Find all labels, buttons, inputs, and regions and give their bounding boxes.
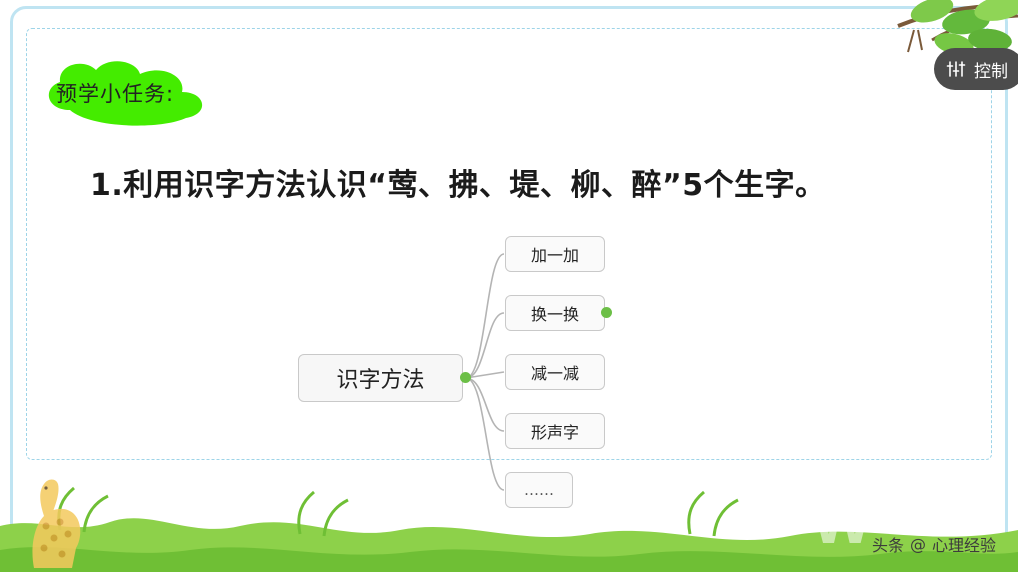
watermark-separator: @ (910, 535, 926, 554)
slide-canvas: 控制 预学小任务: 1.利用识字方法认识“莺、拂、堤、柳、醉”5个生字。 识字方… (0, 0, 1018, 572)
sliders-icon (946, 59, 966, 79)
control-pill-label: 控制 (974, 57, 1008, 82)
mindmap-root-node[interactable]: 识字方法 (298, 354, 463, 402)
main-instruction: 1.利用识字方法认识“莺、拂、堤、柳、醉”5个生字。 (90, 160, 950, 204)
mindmap: 识字方法 加一加 换一换 减一减 形声字 …… (290, 232, 650, 532)
mindmap-root-dot (460, 372, 471, 383)
mindmap-leaf-1[interactable]: 换一换 (505, 295, 605, 331)
mindmap-leaf-3[interactable]: 形声字 (505, 413, 605, 449)
title-badge-label: 预学小任务: (56, 78, 174, 108)
mindmap-leaf-2[interactable]: 减一减 (505, 354, 605, 390)
mindmap-leaf-1-dot (601, 307, 612, 318)
mindmap-leaf-0[interactable]: 加一加 (505, 236, 605, 272)
watermark-brand: 头条 (872, 532, 904, 556)
watermark-account: 心理经验 (932, 532, 996, 556)
mindmap-leaf-4[interactable]: …… (505, 472, 573, 508)
watermark-big-letter: W (812, 484, 870, 558)
control-pill[interactable]: 控制 (934, 48, 1018, 90)
watermark: 头条 @ 心理经验 (872, 532, 996, 556)
